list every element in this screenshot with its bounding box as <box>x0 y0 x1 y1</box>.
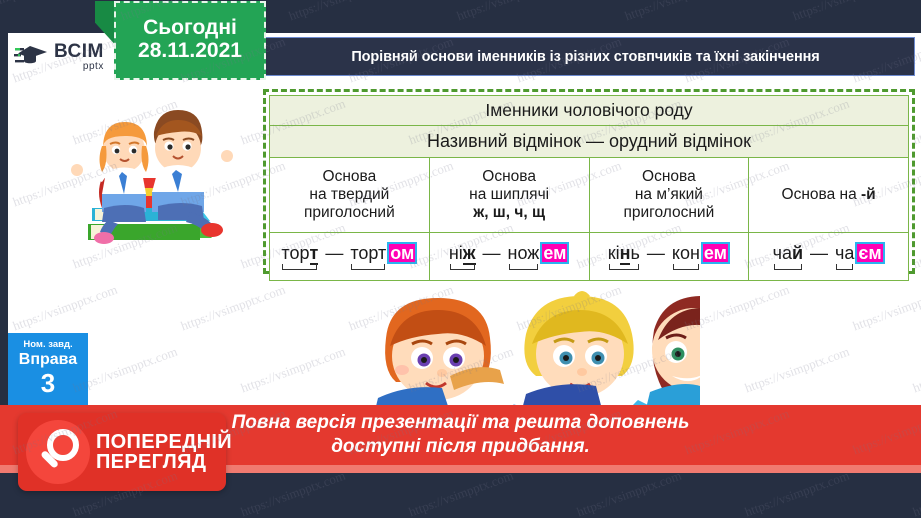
column-head-j: Основа на -й <box>749 158 909 233</box>
col1-bold: ж, ш, ч, щ <box>473 204 545 221</box>
exercise-tag-label: Вправа <box>8 350 88 370</box>
ex2-nom-stem: кі <box>608 243 620 263</box>
banner-line-1: Повна версія презентації та решта доповн… <box>232 411 690 435</box>
column-head-hard: Основа на твердий приголосний <box>270 158 430 233</box>
ex1-nom-stem: ні <box>449 243 463 263</box>
slide-title-bar: Порівняй основи іменників із різних стов… <box>256 37 915 76</box>
ex3-ins-ending: єм <box>855 242 884 265</box>
example-cell-3: чай — чаєм <box>749 233 909 281</box>
ex3-ins-stem: ча <box>835 243 854 264</box>
example-cell-1: ніж — ножем <box>429 233 589 281</box>
left-dark-edge <box>0 33 8 465</box>
example-cell-0: торт — тортом <box>270 233 430 281</box>
brand-logo[interactable]: ВСІМ pptx <box>8 33 123 80</box>
col3-bold: -й <box>861 186 876 203</box>
exercise-tag-caption: Ном. завд. <box>8 340 88 350</box>
ex2-nom-last: н <box>620 243 631 265</box>
ex0-nom-last: т <box>310 243 319 265</box>
date-value: 28.11.2021 <box>138 39 242 63</box>
ex1-ins-stem: нож <box>508 243 540 264</box>
column-head-hissing: Основа на шиплячі ж, ш, ч, щ <box>429 158 589 233</box>
ex1-dash: — <box>483 243 501 271</box>
ex2-ins-ending: ем <box>701 242 730 265</box>
ex3-dash: — <box>810 243 828 271</box>
table-band-gender: Іменники чоловічого роду <box>270 96 909 126</box>
ex2-ins-stem: кон <box>672 243 700 264</box>
ex2-dash: — <box>647 243 665 271</box>
exercise-tag-number: 3 <box>8 370 88 397</box>
ex3-nom-stem: ча <box>773 243 792 263</box>
slide-root: ВСІМ pptx Сьогодні 28.11.2021 Порівняй о… <box>0 0 921 518</box>
column-head-soft: Основа на м’який приголосний <box>589 158 749 233</box>
preview-line-2: ПЕРЕГЛЯД <box>96 452 232 472</box>
col2-line1: Основа <box>594 168 745 186</box>
magnifier-icon <box>26 420 90 484</box>
ex0-dash: — <box>325 243 343 271</box>
ex0-ins-ending: ом <box>387 242 417 265</box>
col1-line1: Основа <box>434 168 585 186</box>
banner-line-2: доступні після придбання. <box>331 435 590 459</box>
ex0-nom-stem: тор <box>281 243 309 263</box>
graduation-cap-icon <box>14 42 50 72</box>
ex2-nom-tail: ь <box>630 243 639 263</box>
date-label: Сьогодні <box>143 17 237 39</box>
logo-subtitle: pptx <box>54 62 104 72</box>
preview-badge[interactable]: ПОПЕРЕДНІЙ ПЕРЕГЛЯД <box>18 413 226 491</box>
col2-line3: приголосний <box>594 204 745 222</box>
col0-line1: Основа <box>274 168 425 186</box>
table-band-cases: Називний відмінок — орудний відмінок <box>270 126 909 158</box>
ex3-nom-last: й <box>792 243 803 263</box>
col0-line2: на твердий <box>274 186 425 204</box>
logo-name: ВСІМ <box>54 42 104 61</box>
col3-line1: Основа на <box>782 186 857 203</box>
two-kids-on-books-illustration <box>58 96 263 268</box>
date-badge: Сьогодні 28.11.2021 <box>114 1 266 80</box>
preview-line-1: ПОПЕРЕДНІЙ <box>96 432 232 452</box>
ex1-nom-last: ж <box>463 243 476 265</box>
col2-line2: на м’який <box>594 186 745 204</box>
grammar-table: Іменники чоловічого роду Називний відмін… <box>263 89 915 274</box>
page-title: Порівняй основи іменників із різних стов… <box>351 49 819 65</box>
example-cell-2: кінь — конем <box>589 233 749 281</box>
col1-line2: на шиплячі <box>434 186 585 204</box>
ex0-ins-stem: торт <box>350 243 386 264</box>
ex1-ins-ending: ем <box>540 242 569 265</box>
col0-line3: приголосний <box>274 204 425 222</box>
